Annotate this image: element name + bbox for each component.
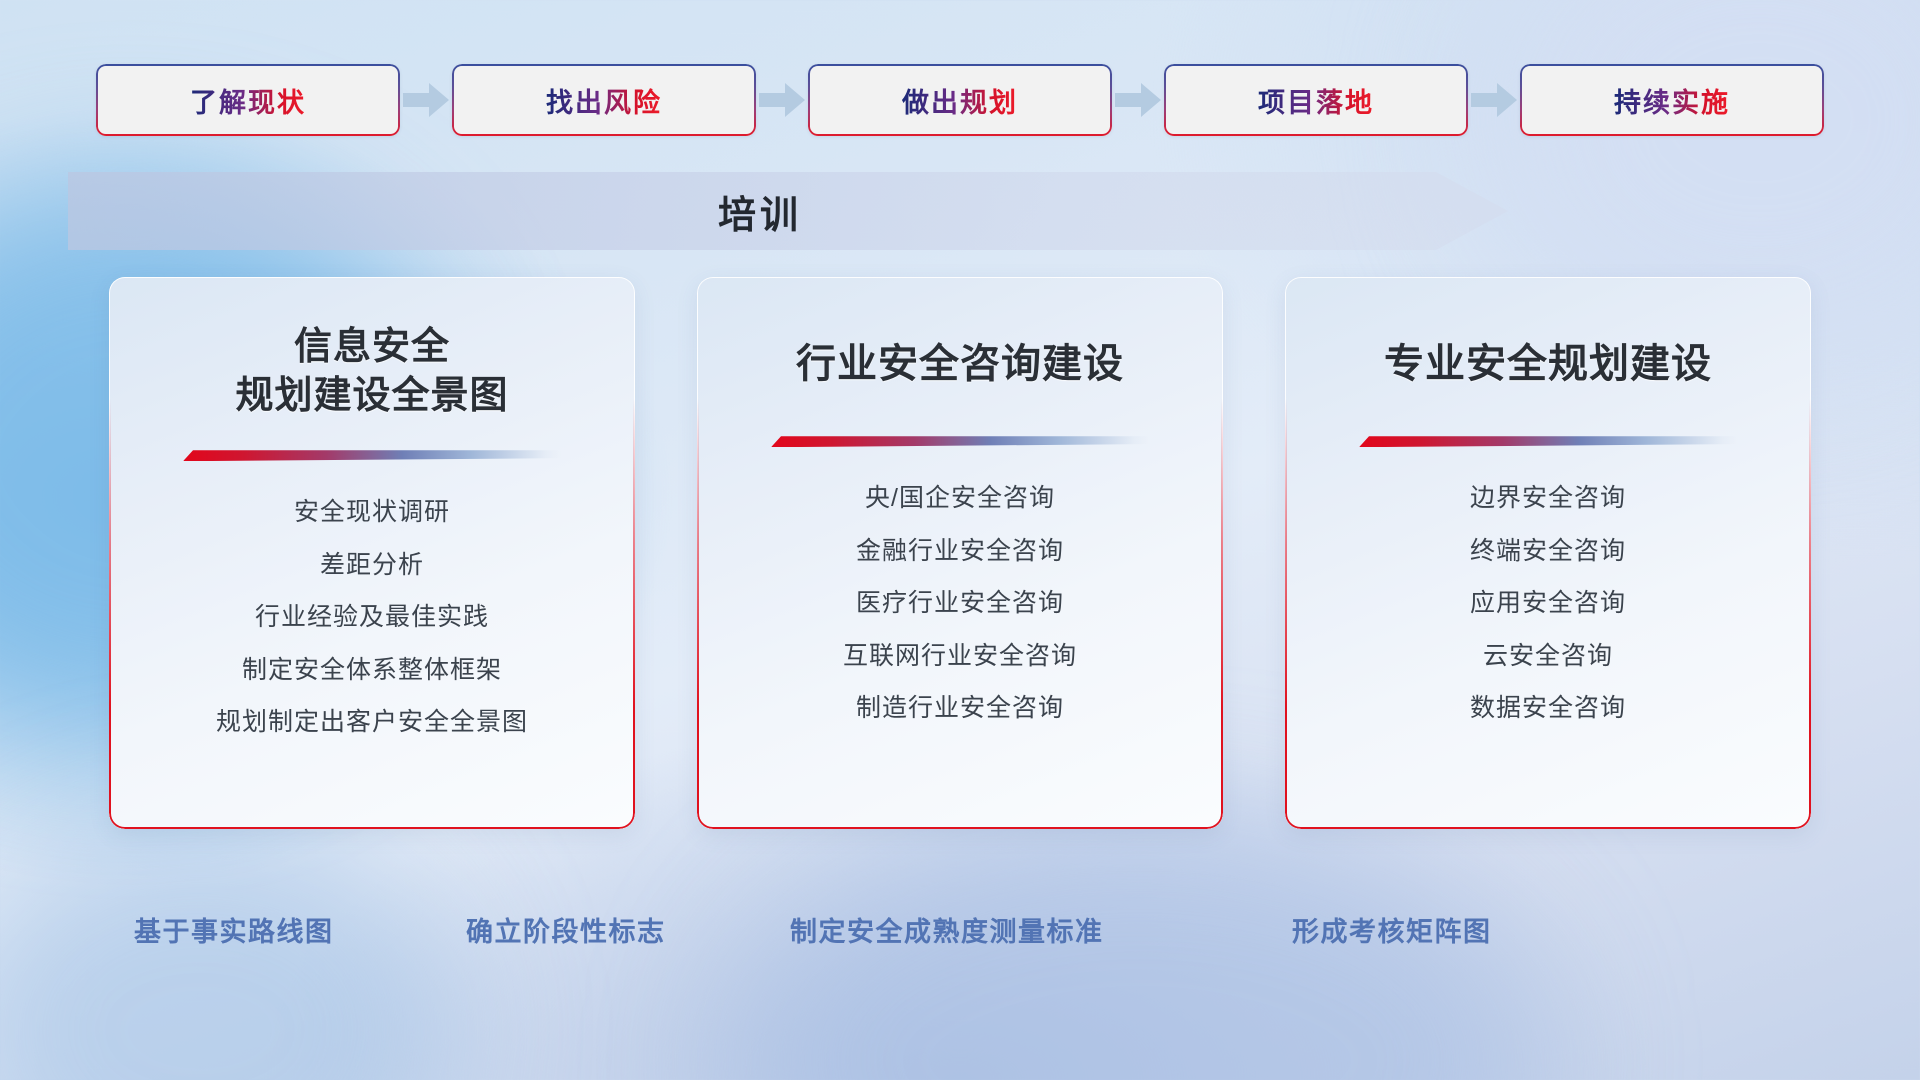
card-title: 信息安全 规划建设全景图: [139, 323, 605, 420]
list-item: 边界安全咨询: [1470, 477, 1626, 520]
step-label: 了解现状: [190, 81, 306, 120]
list-item: 制定安全体系整体框架: [242, 649, 502, 692]
step-box-5[interactable]: 持续实施: [1520, 64, 1824, 136]
card-industry-security-consulting[interactable]: 行业安全咨询建设 央/国企安全咨询 金融行业安全咨询 医疗行业安全咨询 互联网行…: [697, 277, 1223, 829]
list-item: 云安全咨询: [1483, 635, 1613, 678]
process-steps: 了解现状 找出风险 做出规划 项目落地 持续实施: [0, 64, 1920, 136]
list-item: 安全现状调研: [294, 491, 450, 534]
list-item: 医疗行业安全咨询: [856, 582, 1064, 625]
footer-label-2: 确立阶段性标志: [466, 910, 666, 949]
cards-row: 信息安全 规划建设全景图 安全现状调研 差距分析 行业经验及最佳实践 制定安全体…: [0, 277, 1920, 829]
list-item: 终端安全咨询: [1470, 530, 1626, 573]
step-box-3[interactable]: 做出规划: [808, 64, 1112, 136]
card-list: 央/国企安全咨询 金融行业安全咨询 医疗行业安全咨询 互联网行业安全咨询 制造行…: [727, 477, 1193, 730]
card-title-line: 专业安全规划建设: [1315, 339, 1781, 390]
card-title: 行业安全咨询建设: [727, 339, 1193, 390]
list-item: 数据安全咨询: [1470, 687, 1626, 730]
step-label: 做出规划: [902, 81, 1018, 120]
step-box-4[interactable]: 项目落地: [1164, 64, 1468, 136]
list-item: 规划制定出客户安全全景图: [216, 701, 528, 744]
footer-labels: 基于事实路线图 确立阶段性标志 制定安全成熟度测量标准 形成考核矩阵图: [0, 910, 1920, 958]
card-divider: [727, 436, 1193, 447]
right-arrow-icon: [756, 64, 808, 136]
list-item: 金融行业安全咨询: [856, 530, 1064, 573]
list-item: 制造行业安全咨询: [856, 687, 1064, 730]
list-item: 央/国企安全咨询: [865, 477, 1055, 520]
card-title: 专业安全规划建设: [1315, 339, 1781, 390]
footer-label-4: 形成考核矩阵图: [1292, 910, 1492, 949]
footer-label-1: 基于事实路线图: [134, 910, 334, 949]
step-box-2[interactable]: 找出风险: [452, 64, 756, 136]
list-item: 互联网行业安全咨询: [843, 635, 1077, 678]
right-arrow-icon: [400, 64, 452, 136]
card-title-line: 规划建设全景图: [139, 372, 605, 421]
step-label: 持续实施: [1614, 81, 1730, 120]
card-list: 安全现状调研 差距分析 行业经验及最佳实践 制定安全体系整体框架 规划制定出客户…: [139, 491, 605, 744]
card-list: 边界安全咨询 终端安全咨询 应用安全咨询 云安全咨询 数据安全咨询: [1315, 477, 1781, 730]
footer-label-3: 制定安全成熟度测量标准: [790, 910, 1104, 949]
right-arrow-icon: [1112, 64, 1164, 136]
card-title-line: 信息安全: [139, 323, 605, 372]
list-item: 应用安全咨询: [1470, 582, 1626, 625]
card-title-line: 行业安全咨询建设: [727, 339, 1193, 390]
step-label: 找出风险: [546, 81, 662, 120]
step-box-1[interactable]: 了解现状: [96, 64, 400, 136]
training-banner: 培训: [68, 172, 1508, 250]
step-label: 项目落地: [1258, 81, 1374, 120]
banner-title: 培训: [68, 172, 1508, 250]
right-arrow-icon: [1468, 64, 1520, 136]
card-divider: [1315, 436, 1781, 447]
card-professional-security-planning[interactable]: 专业安全规划建设 边界安全咨询 终端安全咨询 应用安全咨询 云安全咨询 数据安全…: [1285, 277, 1811, 829]
card-divider: [139, 450, 605, 461]
banner-arrow-shape: [68, 172, 1508, 250]
list-item: 差距分析: [320, 544, 424, 587]
card-information-security-blueprint[interactable]: 信息安全 规划建设全景图 安全现状调研 差距分析 行业经验及最佳实践 制定安全体…: [109, 277, 635, 829]
list-item: 行业经验及最佳实践: [255, 596, 489, 639]
